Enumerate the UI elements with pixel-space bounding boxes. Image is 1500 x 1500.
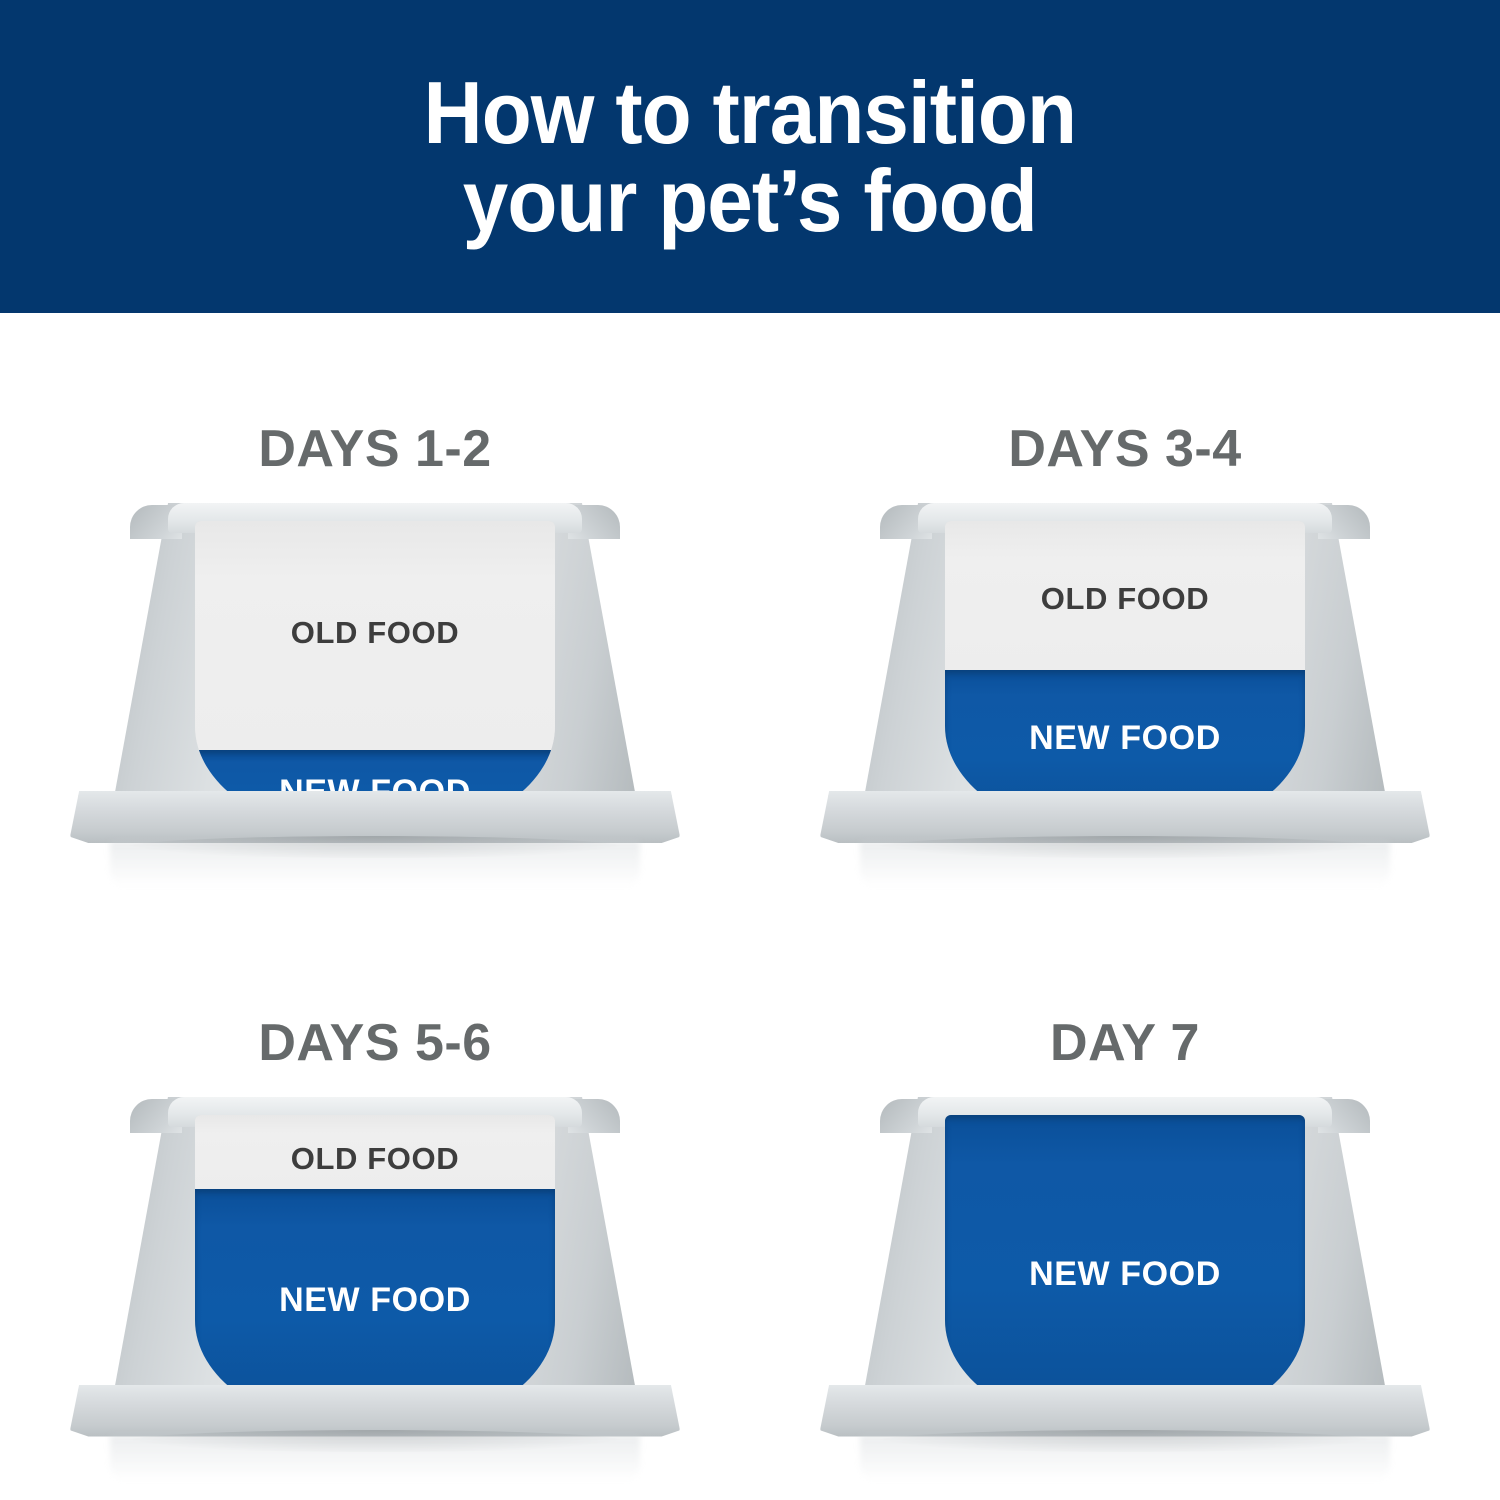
transition-step-1: DAYS 1-2 OLD FOOD NEW FOOD xyxy=(0,313,750,907)
step-heading-days-3-4: DAYS 3-4 xyxy=(1008,313,1241,475)
old-food-fill: OLD FOOD xyxy=(195,521,555,750)
food-bowl-days-5-6: OLD FOOD NEW FOOD xyxy=(70,1097,680,1452)
transition-step-4: DAY 7 NEW FOOD xyxy=(750,907,1500,1500)
new-food-label: NEW FOOD xyxy=(945,1257,1305,1291)
old-food-label: OLD FOOD xyxy=(195,1143,555,1174)
step-heading-days-1-2: DAYS 1-2 xyxy=(258,313,491,475)
old-food-fill: OLD FOOD xyxy=(945,521,1305,670)
step-heading-days-5-6: DAYS 5-6 xyxy=(258,907,491,1069)
transition-step-2: DAYS 3-4 OLD FOOD NEW FOOD xyxy=(750,313,1500,907)
infographic-page: How to transition your pet’s food DAYS 1… xyxy=(0,0,1500,1500)
transition-steps-grid: DAYS 1-2 OLD FOOD NEW FOOD xyxy=(0,313,1500,1500)
bowl-food-well: OLD FOOD NEW FOOD xyxy=(195,521,555,831)
bowl-food-well: OLD FOOD NEW FOOD xyxy=(945,521,1305,831)
bowl-reflection xyxy=(110,841,640,887)
new-food-label: NEW FOOD xyxy=(195,1283,555,1317)
new-food-label: NEW FOOD xyxy=(945,721,1305,755)
bowl-food-well: NEW FOOD xyxy=(945,1115,1305,1425)
new-food-fill: NEW FOOD xyxy=(945,1115,1305,1425)
old-food-label: OLD FOOD xyxy=(195,617,555,648)
step-heading-day-7: DAY 7 xyxy=(1050,907,1200,1069)
food-bowl-days-1-2: OLD FOOD NEW FOOD xyxy=(70,503,680,858)
food-bowl-day-7: NEW FOOD xyxy=(820,1097,1430,1452)
bowl-base xyxy=(70,1385,680,1437)
bowl-reflection xyxy=(110,1435,640,1481)
bowl-base xyxy=(820,1385,1430,1437)
bowl-food-well: OLD FOOD NEW FOOD xyxy=(195,1115,555,1425)
transition-step-3: DAYS 5-6 OLD FOOD NEW FOOD xyxy=(0,907,750,1500)
page-header: How to transition your pet’s food xyxy=(0,0,1500,313)
old-food-fill: OLD FOOD xyxy=(195,1115,555,1189)
food-bowl-days-3-4: OLD FOOD NEW FOOD xyxy=(820,503,1430,858)
old-food-label: OLD FOOD xyxy=(945,583,1305,614)
bowl-reflection xyxy=(860,841,1390,887)
bowl-reflection xyxy=(860,1435,1390,1481)
page-title: How to transition your pet’s food xyxy=(387,69,1114,243)
